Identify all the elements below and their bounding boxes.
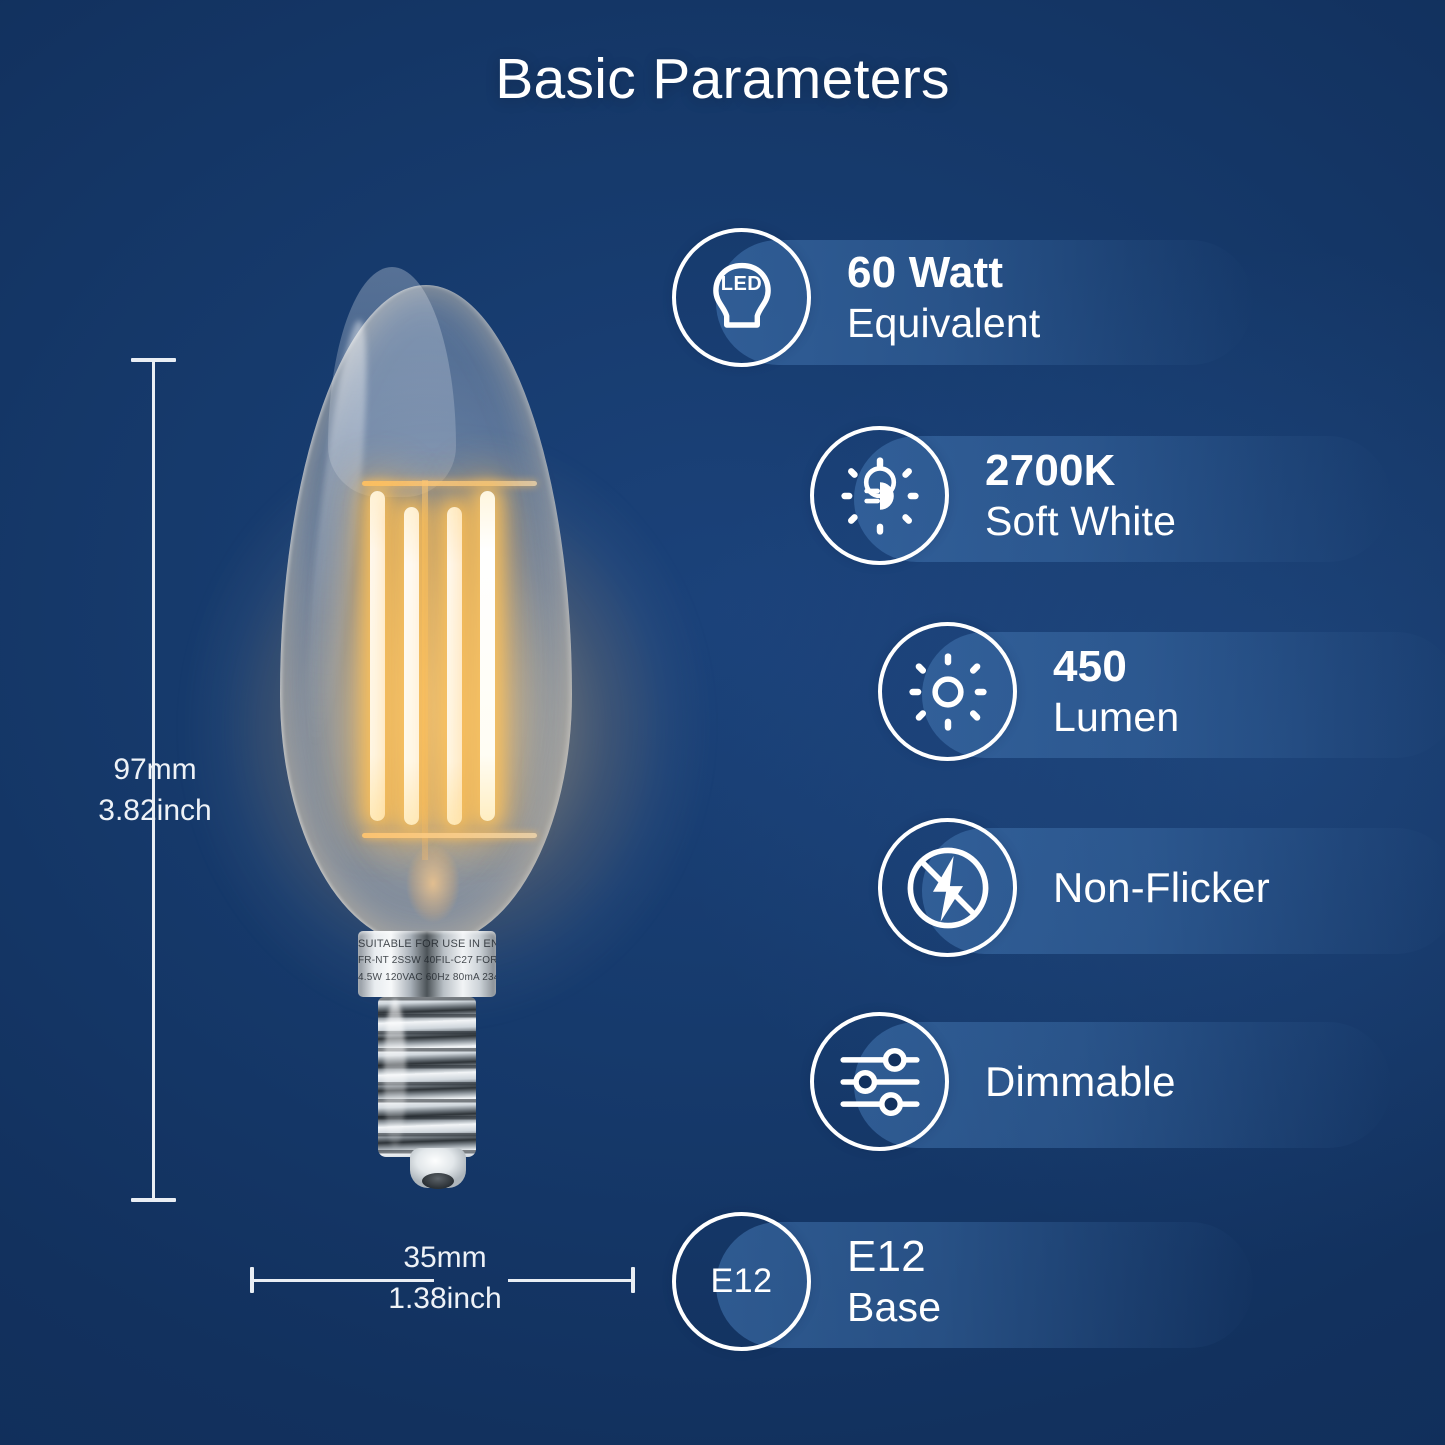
filament-top-wire (362, 481, 537, 486)
brightness-sun-icon-glyph (902, 646, 994, 738)
filament-strip-1 (370, 491, 385, 821)
feature-secondary-watt: Equivalent (847, 299, 1040, 348)
feature-row-dimmable[interactable]: Dimmable (810, 1012, 1176, 1151)
feature-primary-color-temp: 2700K (985, 445, 1176, 497)
led-bulb-icon-glyph (697, 253, 787, 343)
feature-text-color-temp: 2700K Soft White (985, 445, 1176, 546)
filament-hub (400, 845, 466, 941)
led-bulb-icon: LED (672, 228, 811, 367)
feature-row-lumen[interactable]: 450 Lumen (878, 622, 1179, 761)
e12-icon-label: E12 (711, 1262, 773, 1301)
feature-text-watt: 60 Watt Equivalent (847, 247, 1040, 348)
feature-secondary-base: Base (847, 1283, 941, 1332)
base-print-line-1: SUITABLE FOR USE IN ENCLOS (358, 936, 496, 953)
feature-secondary-non-flicker: Non-Flicker (1053, 864, 1270, 912)
infographic-canvas: Basic Parameters SUITABLE FOR USE IN ENC… (0, 0, 1445, 1445)
feature-text-lumen: 450 Lumen (1053, 641, 1179, 742)
width-dimension-cap-left (250, 1267, 254, 1293)
width-dimension-label: 35mm 1.38inch (255, 1237, 635, 1320)
dimmer-sliders-icon (810, 1012, 949, 1151)
width-mm: 35mm (255, 1237, 635, 1278)
feature-primary-base: E12 (847, 1231, 941, 1283)
feature-text-dimmable: Dimmable (985, 1058, 1176, 1106)
no-flicker-icon (878, 818, 1017, 957)
feature-secondary-dimmable: Dimmable (985, 1058, 1176, 1106)
led-icon-label: LED (676, 273, 807, 296)
color-temperature-icon-glyph (834, 450, 926, 542)
feature-row-watt[interactable]: LED 60 Watt Equivalent (672, 228, 1040, 367)
screw-highlight (384, 999, 406, 1149)
base-contact-tip (422, 1173, 454, 1189)
feature-primary-lumen: 450 (1053, 641, 1179, 693)
e12-base-icon: E12 (672, 1212, 811, 1351)
bulb-base-collar: SUITABLE FOR USE IN ENCLOS FR-NT 2SSW 40… (358, 931, 496, 997)
filament-strip-3 (447, 507, 462, 825)
width-inch: 1.38inch (255, 1278, 635, 1319)
base-print-line-3: 4.5W 120VAC 60Hz 80mA 2340/020 DIM E (358, 970, 496, 986)
base-print-line-2: FR-NT 2SSW 40FIL-C27 FOR LAMP LOCA (358, 953, 496, 969)
filament-bottom-wire (362, 833, 537, 838)
feature-primary-watt: 60 Watt (847, 247, 1040, 299)
filament-strip-2 (404, 507, 419, 825)
feature-row-non-flicker[interactable]: Non-Flicker (878, 818, 1270, 957)
height-mm: 97mm (40, 750, 270, 791)
dimmer-sliders-icon-glyph (834, 1036, 926, 1128)
color-temperature-icon (810, 426, 949, 565)
height-dimension-label: 97mm 3.82inch (40, 750, 270, 832)
filament-strip-4 (480, 491, 495, 821)
product-bulb-image: SUITABLE FOR USE IN ENCLOS FR-NT 2SSW 40… (232, 255, 662, 1235)
feature-text-non-flicker: Non-Flicker (1053, 864, 1270, 912)
feature-secondary-color-temp: Soft White (985, 497, 1176, 546)
feature-row-color-temp[interactable]: 2700K Soft White (810, 426, 1176, 565)
feature-row-base[interactable]: E12 E12 Base (672, 1212, 941, 1351)
height-dimension-cap-top (131, 358, 176, 362)
feature-text-base: E12 Base (847, 1231, 941, 1332)
height-dimension-cap-bottom (131, 1198, 176, 1202)
height-inch: 3.82inch (40, 791, 270, 832)
filament-stem (422, 480, 428, 860)
feature-secondary-lumen: Lumen (1053, 693, 1179, 742)
no-flicker-icon-glyph (901, 841, 995, 935)
brightness-sun-icon (878, 622, 1017, 761)
page-title: Basic Parameters (0, 46, 1445, 112)
